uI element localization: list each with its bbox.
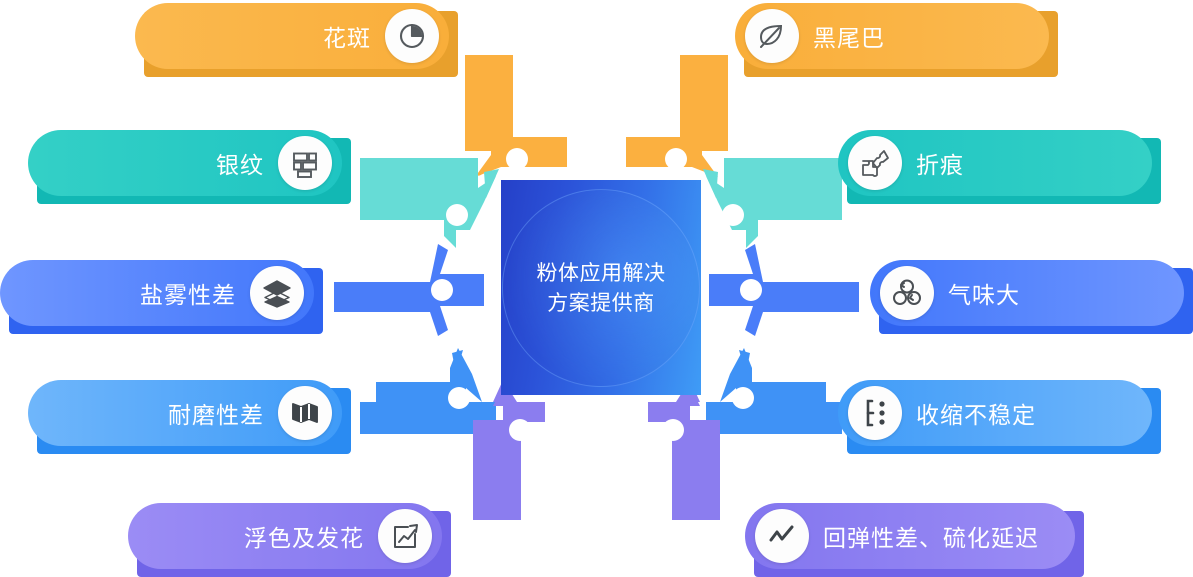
node-label: 耐磨性差 <box>168 396 264 430</box>
puzzle-icon <box>848 136 902 190</box>
line-chart-icon <box>755 509 809 563</box>
recycle-icon <box>880 266 934 320</box>
node-label: 花斑 <box>323 19 371 53</box>
node-label: 气味大 <box>948 276 1020 310</box>
center-node: 粉体应用解决 方案提供商 <box>501 180 701 395</box>
connector-left-5 <box>455 380 585 520</box>
pie-chart-icon <box>385 9 439 63</box>
trend-up-icon <box>378 509 432 563</box>
node-label: 回弹性差、硫化延迟 <box>823 519 1039 553</box>
node-label: 黑尾巴 <box>813 19 885 53</box>
connector-right-5 <box>608 380 738 520</box>
connector-left-3 <box>334 244 494 354</box>
node-left-3[interactable]: 盐雾性差 <box>0 260 314 326</box>
node-left-2[interactable]: 银纹 <box>28 130 342 196</box>
node-pill[interactable]: 耐磨性差 <box>28 380 342 446</box>
node-pill[interactable]: 盐雾性差 <box>0 260 314 326</box>
node-label: 盐雾性差 <box>140 276 236 310</box>
node-right-5[interactable]: 回弹性差、硫化延迟 <box>745 503 1075 569</box>
diagram-canvas: 粉体应用解决 方案提供商 花斑 银纹 <box>0 0 1193 577</box>
leaf-icon <box>745 9 799 63</box>
node-label: 浮色及发花 <box>244 519 364 553</box>
node-pill[interactable]: 回弹性差、硫化延迟 <box>745 503 1075 569</box>
node-pill[interactable]: 花斑 <box>135 3 449 69</box>
node-left-5[interactable]: 浮色及发花 <box>128 503 442 569</box>
node-right-4[interactable]: 收缩不稳定 <box>838 380 1152 446</box>
layers-icon <box>250 266 304 320</box>
node-pill[interactable]: 折痕 <box>838 130 1152 196</box>
node-label: 折痕 <box>916 146 964 180</box>
node-right-1[interactable]: 黑尾巴 <box>735 3 1049 69</box>
node-left-1[interactable]: 花斑 <box>135 3 449 69</box>
node-pill[interactable]: 黑尾巴 <box>735 3 1049 69</box>
node-pill[interactable]: 浮色及发花 <box>128 503 442 569</box>
node-label: 银纹 <box>216 146 264 180</box>
node-pill[interactable]: 银纹 <box>28 130 342 196</box>
node-pill[interactable]: 气味大 <box>870 260 1184 326</box>
open-book-icon <box>278 386 332 440</box>
node-label: 收缩不稳定 <box>916 396 1036 430</box>
node-right-3[interactable]: 气味大 <box>870 260 1184 326</box>
node-pill[interactable]: 收缩不稳定 <box>838 380 1152 446</box>
hierarchy-icon <box>848 386 902 440</box>
node-left-4[interactable]: 耐磨性差 <box>28 380 342 446</box>
node-right-2[interactable]: 折痕 <box>838 130 1152 196</box>
brick-wall-icon <box>278 136 332 190</box>
center-node-label: 粉体应用解决 方案提供商 <box>537 258 666 318</box>
connector-right-3 <box>699 244 859 354</box>
